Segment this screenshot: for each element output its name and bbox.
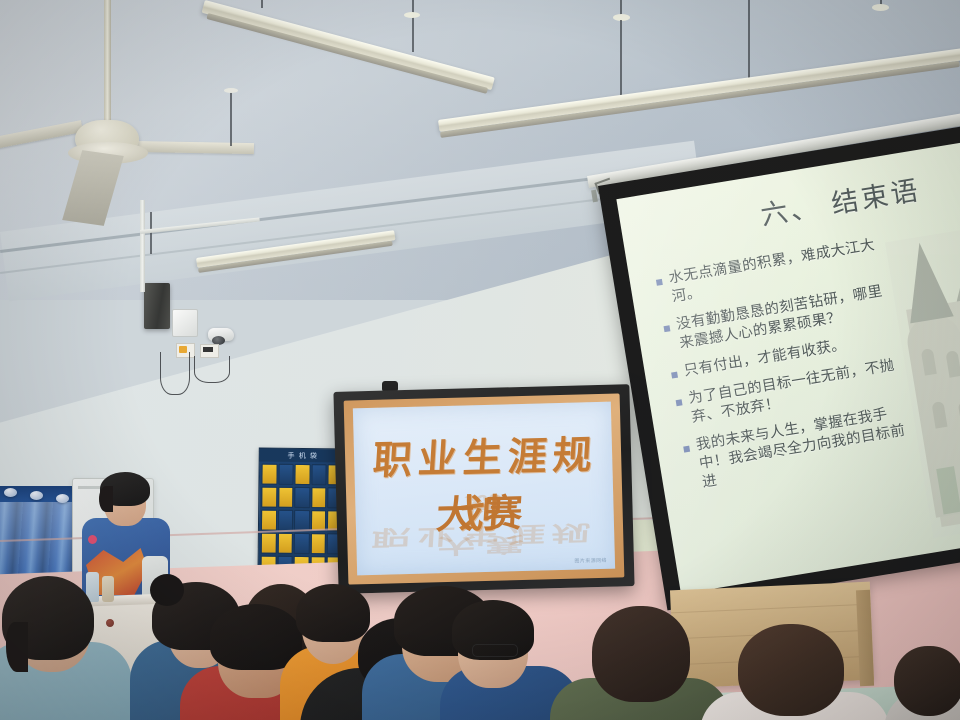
ceiling-wire-mount xyxy=(404,12,420,18)
screen-light-sheen xyxy=(616,137,960,594)
phone-pocket xyxy=(295,464,311,485)
student-presenter xyxy=(0,0,200,620)
phone-pocket xyxy=(261,533,277,554)
phone-pocket xyxy=(294,487,310,508)
phone-board-label: 手 机 袋 xyxy=(287,450,318,460)
phone-pocket xyxy=(261,510,277,531)
tv-watermark: 图片来源网络 xyxy=(574,557,607,565)
ceiling-wire-mount xyxy=(613,14,630,21)
fluorescent-tube-2 xyxy=(438,48,960,132)
phone-pocket xyxy=(261,464,277,485)
pocket-row xyxy=(261,533,343,555)
phone-pocket xyxy=(294,533,310,554)
audience-member xyxy=(884,650,960,720)
classroom-photo: 手 机 袋 xyxy=(0,0,960,720)
audience-member xyxy=(440,598,570,720)
lcd-tv-display[interactable]: 职业生涯规划 职业生涯规划 大赛 大赛 图片来源网络 xyxy=(333,384,634,594)
phone-board-header: 手 机 袋 xyxy=(260,449,346,463)
light-wire xyxy=(230,90,232,146)
audience-head xyxy=(894,646,960,716)
tv-screen: 职业生涯规划 职业生涯规划 大赛 大赛 图片来源网络 xyxy=(353,402,615,576)
phone-pocket xyxy=(278,510,294,531)
phone-pocket xyxy=(311,464,327,485)
audience-head xyxy=(738,624,844,716)
phone-pocket xyxy=(294,510,310,531)
light-wire xyxy=(261,0,263,8)
outlet-socket xyxy=(203,347,213,352)
ceiling-wire-mount xyxy=(224,88,238,93)
pocket-row xyxy=(261,487,343,509)
phone-pocket xyxy=(278,464,294,485)
fluorescent-tube-1-under xyxy=(206,13,488,94)
tv-frame: 职业生涯规划 职业生涯规划 大赛 大赛 图片来源网络 xyxy=(344,393,625,584)
fluorescent-tube-1 xyxy=(202,0,495,90)
ceiling-wire-mount xyxy=(872,4,889,11)
presenter-hair-side xyxy=(99,486,113,512)
light-wire xyxy=(620,20,622,96)
phone-pocket xyxy=(310,533,326,554)
audience-head xyxy=(592,606,690,702)
phone-pocket xyxy=(277,533,293,554)
light-wire xyxy=(412,0,414,52)
phone-pocket xyxy=(261,487,277,508)
pocket-row xyxy=(261,464,343,486)
eyeglasses-icon xyxy=(472,644,518,657)
audience-member xyxy=(560,612,720,720)
audience-member xyxy=(712,626,882,720)
phone-pocket xyxy=(278,487,294,508)
projection-screen-surface: 六、 结束语 水无点滴量的积累，难成大江大河。 没有勤勤恳恳的刻苦钻研，哪里来震… xyxy=(616,137,960,594)
tv-title-line2: 大赛 xyxy=(354,480,615,542)
audience-hair-fringe xyxy=(6,622,28,672)
presenter-badge xyxy=(88,535,97,544)
phone-pocket xyxy=(311,487,327,508)
hair-bun xyxy=(150,574,184,606)
